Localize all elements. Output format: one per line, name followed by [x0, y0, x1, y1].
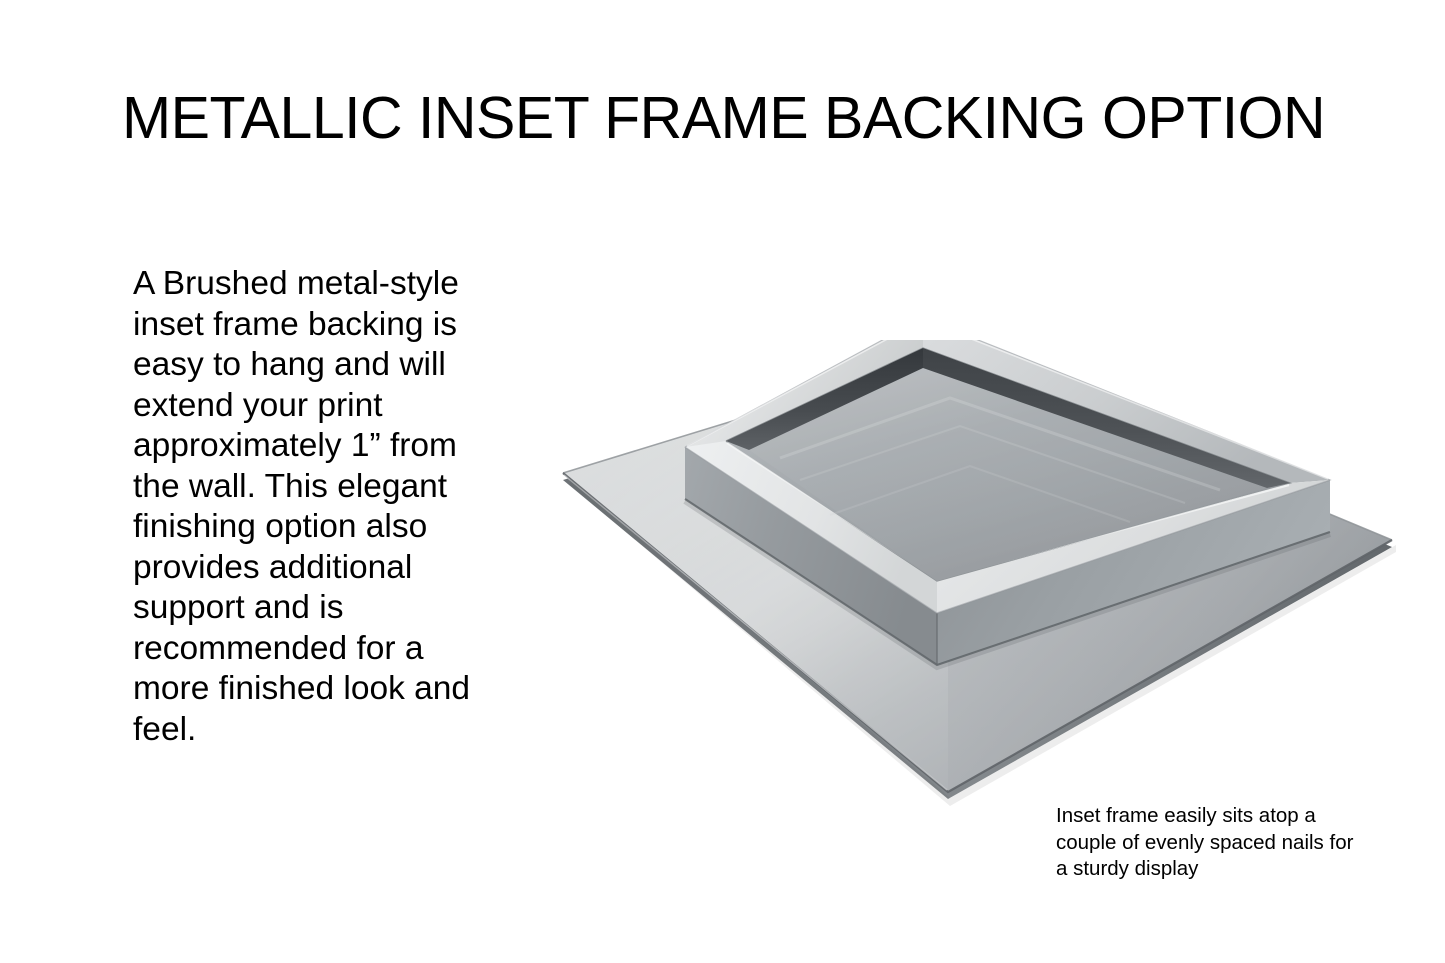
product-photo: [530, 340, 1420, 810]
page-title: METALLIC INSET FRAME BACKING OPTION: [122, 86, 1342, 151]
body-description-text: A Brushed metal-style inset frame backin…: [133, 264, 483, 750]
metallic-inset-frame-illustration: [530, 340, 1420, 810]
slide-canvas: METALLIC INSET FRAME BACKING OPTION A Br…: [0, 0, 1445, 963]
figure-caption: Inset frame easily sits atop a couple of…: [1056, 803, 1366, 883]
